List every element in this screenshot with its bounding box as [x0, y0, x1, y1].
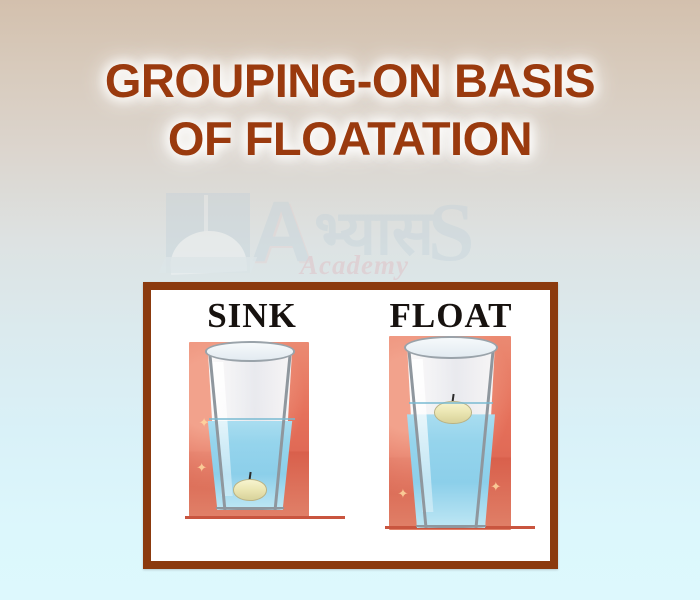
candle-body [434, 401, 472, 425]
watermark-logo: A भ्यास S Academy [160, 183, 540, 283]
figure-panel-inner: SINK ✦ ✦ [151, 290, 550, 561]
glass-base [416, 525, 486, 528]
book-spine [204, 195, 208, 269]
page-title: GROUPING-ON BASIS OF FLOATATION [0, 52, 700, 168]
figure-panel: SINK ✦ ✦ [143, 282, 558, 569]
candle-float [434, 401, 472, 425]
watermark-letter-a: A [250, 193, 312, 272]
book-fold [169, 229, 247, 275]
case-label-sink: SINK [157, 296, 347, 336]
glass-rim [205, 341, 295, 362]
candle-sink [233, 479, 268, 501]
waterline-float [409, 402, 493, 404]
watermark-letter-s: S [428, 195, 475, 271]
glass-float [401, 332, 501, 528]
book-page-block [166, 193, 250, 273]
watermark-tagline: Academy [300, 250, 409, 281]
slide-canvas: A भ्यास S Academy GROUPING-ON BASIS OF F… [0, 0, 700, 600]
case-float: FLOAT ✦ ✦ [361, 290, 541, 561]
glass-sink [202, 338, 298, 510]
table-edge-sink [185, 516, 345, 519]
case-label-float: FLOAT [361, 296, 541, 336]
watermark-devanagari: भ्यास [314, 204, 434, 263]
glass-base [216, 507, 283, 510]
candle-body [233, 479, 268, 501]
case-sink: SINK ✦ ✦ [157, 290, 347, 561]
book-shadow [159, 257, 257, 273]
waterline-sink [209, 418, 295, 420]
open-book-icon [160, 187, 256, 279]
